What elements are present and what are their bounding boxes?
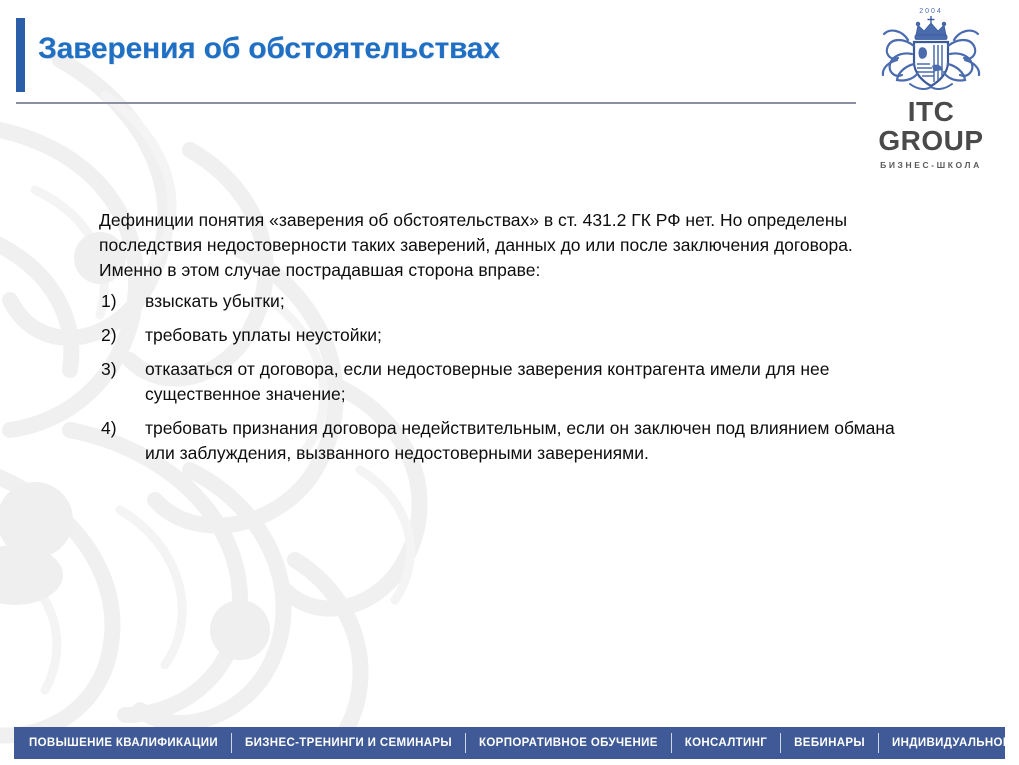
page-title: Заверения об обстоятельствах bbox=[38, 32, 500, 66]
list-item: 4) требовать признания договора недейств… bbox=[99, 416, 909, 466]
footer-item-korporativnoe-obuchenie[interactable]: КОРПОРАТИВНОЕ ОБУЧЕНИЕ bbox=[466, 727, 671, 759]
list-item-label: требовать уплаты неустойки; bbox=[145, 325, 382, 345]
list-item-marker: 4) bbox=[101, 416, 135, 441]
list-item: 1) взыскать убытки; bbox=[99, 289, 909, 314]
list-item: 3) отказаться от договора, если недостов… bbox=[99, 357, 909, 407]
list-item-label: взыскать убытки; bbox=[145, 291, 285, 311]
list-item-marker: 1) bbox=[101, 289, 135, 314]
footer-item-povyshenie-kvalifikacii[interactable]: ПОВЫШЕНИЕ КВАЛИФИКАЦИИ bbox=[16, 727, 231, 759]
footer-item-biznes-treningi[interactable]: БИЗНЕС-ТРЕНИНГИ И СЕМИНАРЫ bbox=[232, 727, 465, 759]
list-item-label: отказаться от договора, если недостоверн… bbox=[145, 359, 830, 404]
footer-item-konsalting[interactable]: КОНСАЛТИНГ bbox=[672, 727, 780, 759]
numbered-list: 1) взыскать убытки; 2) требовать уплаты … bbox=[99, 289, 909, 466]
list-item-label: требовать признания договора недействите… bbox=[145, 418, 895, 463]
slide-canvas: Заверения об обстоятельствах 2004 bbox=[0, 0, 1019, 765]
list-item-marker: 3) bbox=[101, 357, 135, 382]
footer-nav-bar: ПОВЫШЕНИЕ КВАЛИФИКАЦИИ БИЗНЕС-ТРЕНИНГИ И… bbox=[14, 727, 1005, 759]
footer-item-individualnoe-obuchenie[interactable]: ИНДИВИДУАЛЬНОЕ ОБУЧЕНИЕ bbox=[879, 727, 1019, 759]
list-item-marker: 2) bbox=[101, 323, 135, 348]
title-accent-bar bbox=[16, 18, 25, 92]
svg-text:2004: 2004 bbox=[919, 8, 943, 15]
logo-subtitle: БИЗНЕС-ШКОЛА bbox=[855, 160, 1007, 170]
company-logo: 2004 bbox=[855, 4, 1007, 170]
logo-wordmark: ITC GROUP bbox=[855, 97, 1007, 156]
intro-paragraph: Дефиниции понятия «заверения об обстояте… bbox=[99, 208, 909, 283]
footer-item-vebinary[interactable]: ВЕБИНАРЫ bbox=[781, 727, 878, 759]
list-item: 2) требовать уплаты неустойки; bbox=[99, 323, 909, 348]
header-divider bbox=[16, 102, 856, 104]
slide-content: Дефиниции понятия «заверения об обстояте… bbox=[99, 208, 909, 475]
heraldic-crest-icon: 2004 bbox=[864, 4, 998, 96]
